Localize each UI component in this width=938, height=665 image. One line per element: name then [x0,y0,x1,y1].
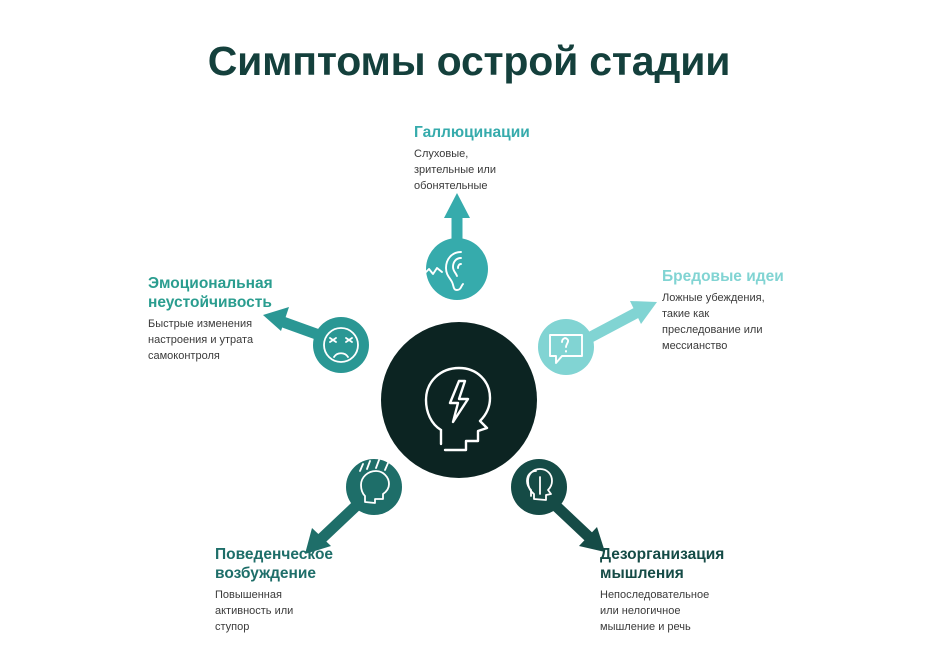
delusions-description: Ложные убеждения, такие как преследовани… [662,291,822,355]
label-behavioral: Поведенческое возбуждение Повышенная акт… [215,546,365,636]
emotional-heading: Эмоциональная неустойчивость [148,275,286,313]
emotional-description: Быстрые изменения настроения и утрата са… [148,317,286,365]
heading-line: Эмоциональная [148,275,286,294]
desc-line: Быстрые изменения [148,317,286,333]
infographic-root: Симптомы острой стадии [0,0,938,665]
hallucinations-heading: Галлюцинации [414,124,604,143]
label-delusions: Бредовые идеи Ложные убеждения, такие ка… [662,268,822,355]
node-delusions[interactable] [538,319,594,375]
desc-line: зрительные или [414,163,604,179]
thinking-circle [511,459,567,515]
desc-line: Ложные убеждения, [662,291,822,307]
desc-line: Повышенная [215,588,365,604]
desc-line: такие как [662,307,822,323]
heading-line: мышления [600,565,775,584]
label-emotional: Эмоциональная неустойчивость Быстрые изм… [148,275,286,365]
label-thinking: Дезорганизация мышления Непоследовательн… [600,546,775,636]
desc-line: Непоследовательное [600,588,775,604]
desc-line: мышление и речь [600,620,775,636]
heading-line: неустойчивость [148,294,286,313]
desc-line: настроения и утрата [148,333,286,349]
node-emotional[interactable] [313,317,369,373]
heading-line: Дезорганизация [600,546,775,565]
center-hub[interactable] [381,322,537,478]
delusions-heading: Бредовые идеи [662,268,822,287]
desc-line: или нелогичное [600,604,775,620]
behavioral-description: Повышенная активность или ступор [215,588,365,636]
desc-line: мессианство [662,339,822,355]
node-hallucinations[interactable] [426,238,488,300]
node-behavioral[interactable] [346,459,402,515]
heading-line: возбуждение [215,565,365,584]
heading-line: Поведенческое [215,546,365,565]
desc-line: активность или [215,604,365,620]
node-thinking[interactable] [511,459,567,515]
hallucinations-description: Слуховые, зрительные или обонятельные [414,147,604,195]
desc-line: самоконтроля [148,349,286,365]
thinking-heading: Дезорганизация мышления [600,546,775,584]
desc-line: преследование или [662,323,822,339]
desc-line: обонятельные [414,179,604,195]
emotional-circle [313,317,369,373]
thinking-description: Непоследовательное или нелогичное мышлен… [600,588,775,636]
desc-line: ступор [215,620,365,636]
desc-line: Слуховые, [414,147,604,163]
behavioral-heading: Поведенческое возбуждение [215,546,365,584]
behavioral-circle [346,459,402,515]
label-hallucinations: Галлюцинации Слуховые, зрительные или об… [414,124,604,195]
